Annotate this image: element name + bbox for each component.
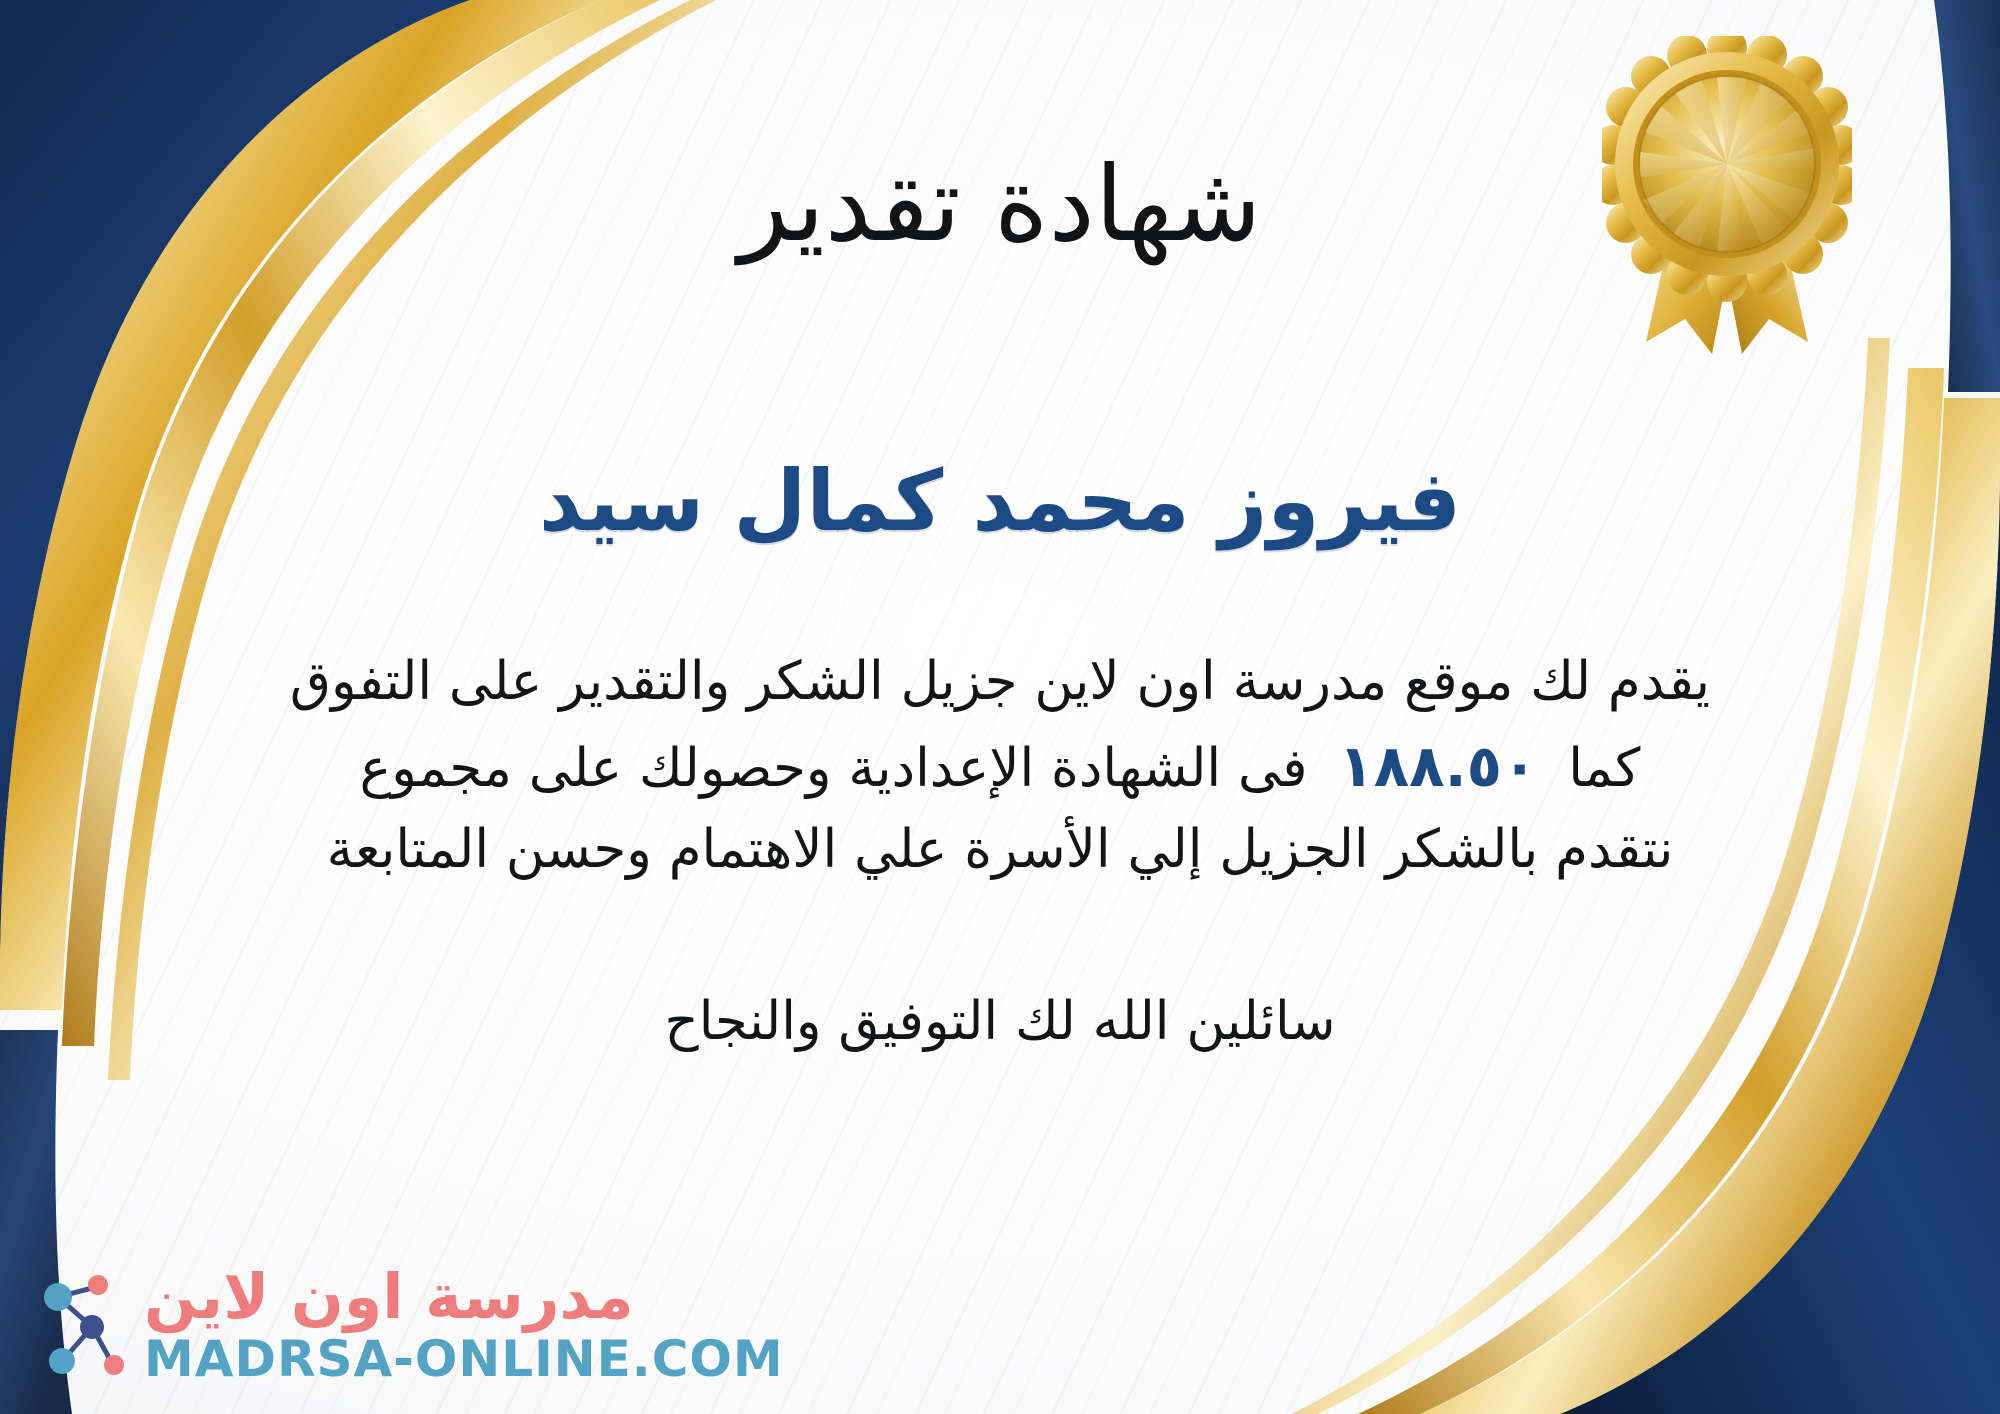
network-nodes-logo-icon <box>34 1271 130 1379</box>
closing-line: سائلين الله لك التوفيق والنجاح <box>664 985 1335 1059</box>
body-line-2-prefix: فى الشهادة الإعدادية وحصولك على مجموع <box>360 738 1308 799</box>
certificate-content: شهادة تقدير فيروز محمد كمال سيد يقدم لك … <box>0 0 2000 1414</box>
brand-logo: مدرسة اون لاين MADRSA-ONLINE.COM <box>34 1266 784 1384</box>
brand-name-arabic: مدرسة اون لاين <box>144 1266 634 1328</box>
brand-website: MADRSA-ONLINE.COM <box>144 1334 784 1384</box>
body-line-3: نتقدم بالشكر الجزيل إلي الأسرة علي الاهت… <box>120 810 1880 891</box>
certificate-body: يقدم لك موقع مدرسة اون لاين جزيل الشكر و… <box>120 642 1880 891</box>
body-line-1: يقدم لك موقع مدرسة اون لاين جزيل الشكر و… <box>120 642 1880 723</box>
recipient-name: فيروز محمد كمال سيد <box>539 455 1461 547</box>
score-value: ١٨٨.٥٠ <box>1324 732 1551 800</box>
body-line-2-suffix: كما <box>1568 738 1640 799</box>
body-line-2: كما ١٨٨.٥٠ فى الشهادة الإعدادية وحصولك ع… <box>120 722 1880 810</box>
page-title: شهادة تقدير <box>738 150 1261 259</box>
certificate-page: شهادة تقدير فيروز محمد كمال سيد يقدم لك … <box>0 0 2000 1414</box>
